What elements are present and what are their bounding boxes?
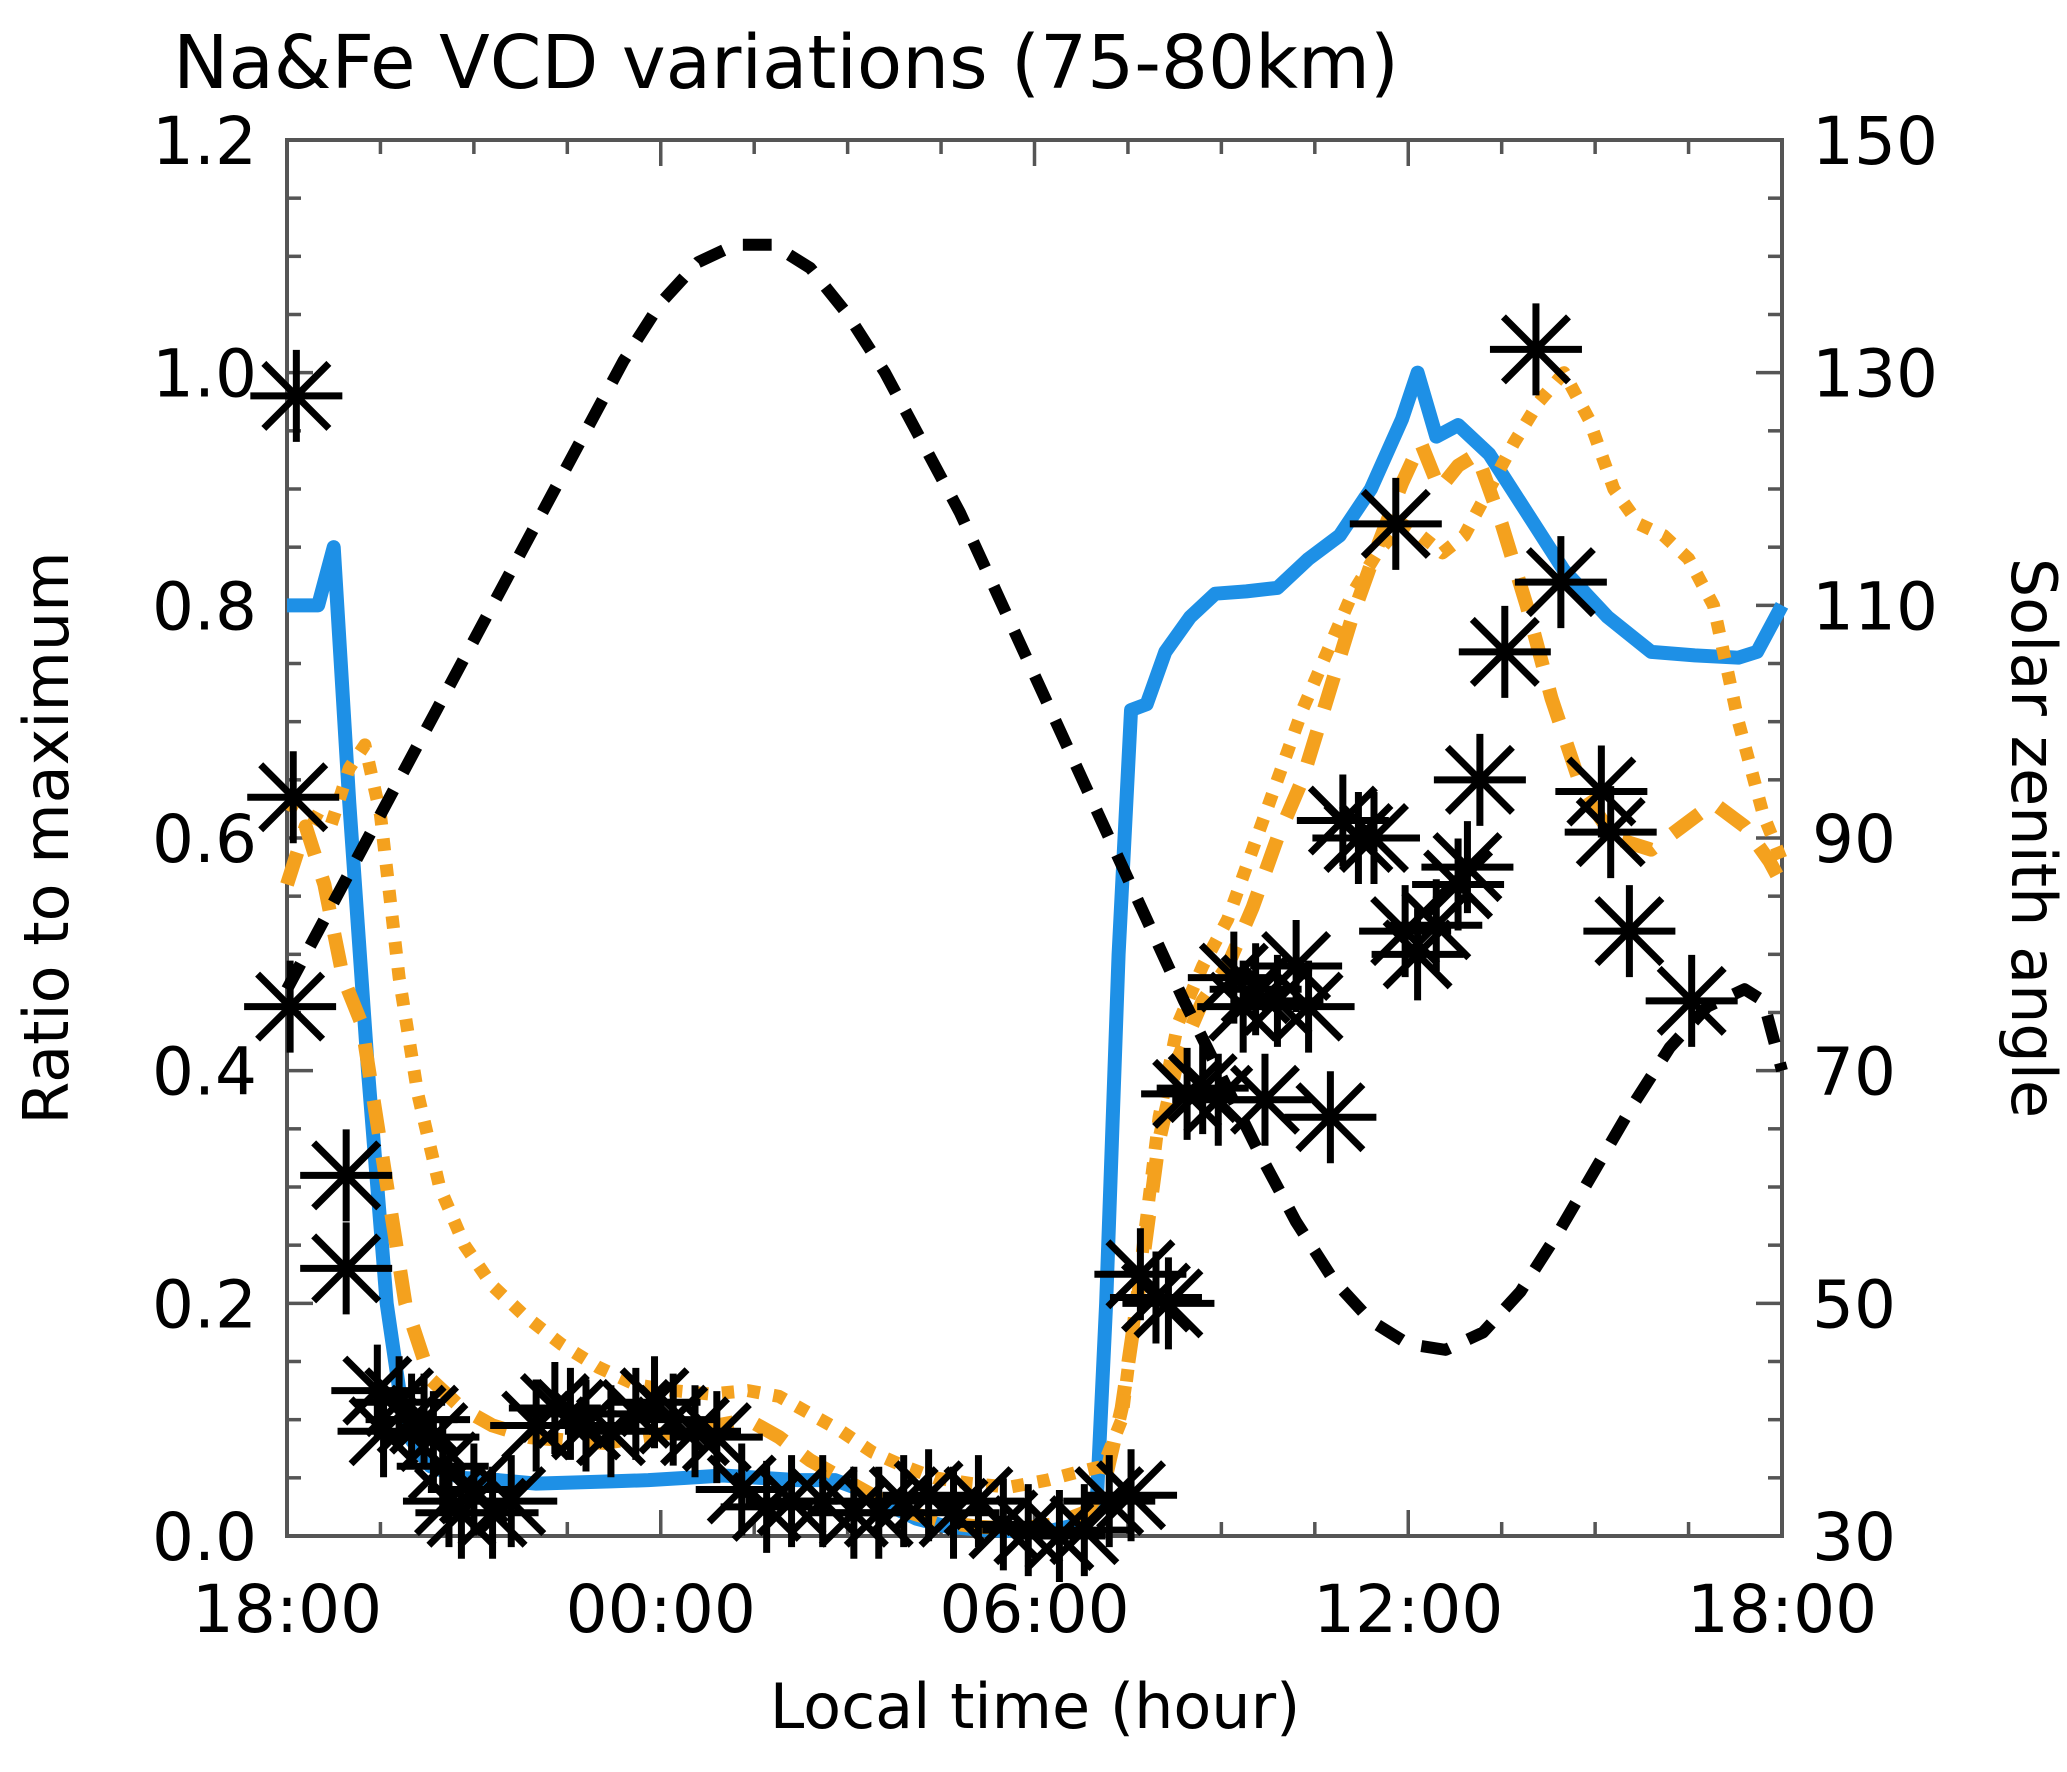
data-marker-asterisk xyxy=(300,1129,392,1221)
x-tick-label: 12:00 xyxy=(1313,1571,1503,1648)
data-marker-asterisk xyxy=(1110,1252,1202,1344)
x-axis-title: Local time (hour) xyxy=(770,1670,1301,1743)
data-marker-asterisk xyxy=(1284,1071,1376,1163)
y-tick-label: 0.0 xyxy=(152,1499,257,1576)
data-marker-asterisk xyxy=(244,961,336,1053)
secondary-y-axis-title: Solar zenith angle xyxy=(1997,558,2067,1118)
x-tick-label: 18:00 xyxy=(192,1571,382,1648)
data-marker-asterisk xyxy=(1434,734,1526,826)
data-marker-asterisk xyxy=(250,350,342,442)
data-marker-asterisk xyxy=(247,751,339,843)
chart-figure: Na&Fe VCD variations (75-80km) 18:0000:0… xyxy=(0,0,2067,1772)
x-tick-label: 06:00 xyxy=(939,1571,1129,1648)
data-marker-asterisk xyxy=(1421,821,1513,913)
data-marker-asterisk xyxy=(1412,839,1504,931)
data-marker-asterisk xyxy=(1085,1449,1177,1541)
data-marker-asterisk xyxy=(1490,303,1582,395)
data-marker-asterisk xyxy=(1122,1257,1214,1349)
data-marker-asterisk xyxy=(1515,536,1607,628)
secondary-y-tick-label: 70 xyxy=(1812,1034,1896,1111)
secondary-y-tick-label: 150 xyxy=(1812,103,1938,180)
secondary-y-tick-label: 130 xyxy=(1812,336,1938,413)
data-marker-asterisk xyxy=(1219,1054,1311,1146)
data-marker-asterisk xyxy=(1565,786,1657,878)
data-marker-asterisk xyxy=(1263,961,1355,1053)
secondary-y-tick-label: 30 xyxy=(1812,1499,1896,1576)
y-tick-label: 0.8 xyxy=(152,568,257,645)
data-marker-asterisk xyxy=(1459,606,1551,698)
secondary-y-tick-label: 90 xyxy=(1812,801,1896,878)
y-tick-label: 0.2 xyxy=(152,1266,257,1343)
secondary-y-tick-label: 110 xyxy=(1812,568,1938,645)
y-axis-title: Ratio to maximum xyxy=(10,551,83,1124)
data-marker-asterisk xyxy=(1350,478,1442,570)
y-tick-label: 1.0 xyxy=(152,336,257,413)
chart-title: Na&Fe VCD variations (75-80km) xyxy=(173,20,1399,106)
data-marker-asterisk xyxy=(1328,792,1420,884)
x-tick-label: 00:00 xyxy=(566,1571,756,1648)
y-tick-label: 0.4 xyxy=(152,1034,257,1111)
data-marker-asterisk xyxy=(1583,885,1675,977)
secondary-y-tick-label: 50 xyxy=(1812,1266,1896,1343)
y-tick-label: 1.2 xyxy=(152,103,257,180)
x-tick-label: 18:00 xyxy=(1687,1571,1877,1648)
chart-canvas: Na&Fe VCD variations (75-80km) 18:0000:0… xyxy=(0,0,2067,1772)
y-tick-label: 0.6 xyxy=(152,801,257,878)
data-marker-asterisk xyxy=(300,1222,392,1314)
data-marker-asterisk xyxy=(1646,955,1738,1047)
data-marker-asterisk xyxy=(465,1455,557,1547)
